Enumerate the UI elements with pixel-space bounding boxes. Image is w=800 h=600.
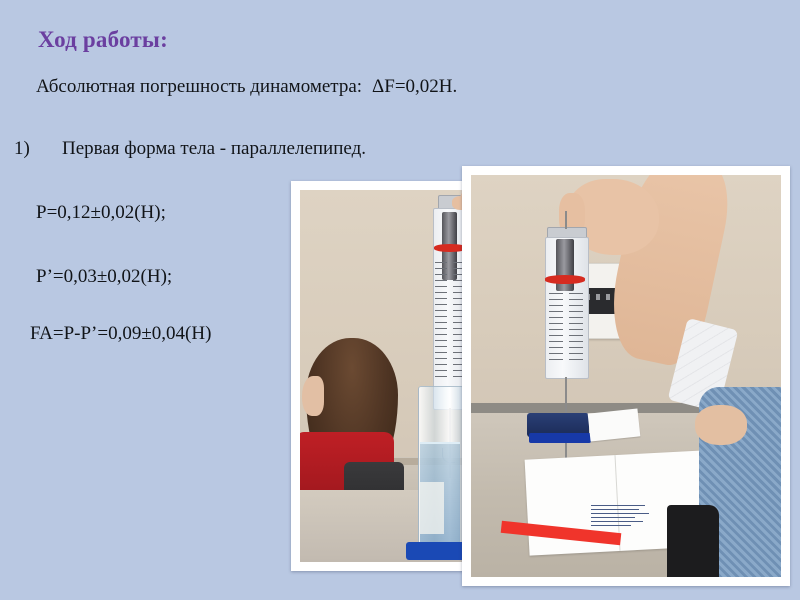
cylinder-label [420,482,444,534]
absolute-error-line: Абсолютная погрешность динамометра:ΔF=0,… [36,76,457,98]
photo-right-image [471,175,781,577]
dynamometer-top-loop [565,211,567,229]
dynamometer-scale-left [549,293,563,375]
pencil-case-lid [529,433,591,443]
paper-sheet [588,408,641,441]
photo-right [462,166,790,586]
dynamometer-scale-right [569,293,583,375]
formula-weight-in-water: P’=0,03±0,02(H); [36,266,172,288]
slide-canvas: { "slide": { "background_color": "#b9c8e… [0,0,800,600]
dynamometer-scale-left [435,262,447,402]
formula-weight-in-air: P=0,12±0,02(H); [36,202,166,224]
list-item-marker: 1) [14,138,62,160]
student-face [302,376,324,416]
dark-chair [667,505,719,577]
dynamometer-pointer [545,275,585,284]
formula-buoyant-force: FA=P-P’=0,09±0,04(H) [30,323,211,345]
page-title: Ход работы: [38,27,168,53]
list-item-label: Первая форма тела - параллелепипед. [62,138,366,159]
absolute-error-value: ΔF=0,02H. [372,76,457,97]
notebook-writing [591,505,651,529]
list-item: 1)Первая форма тела - параллелепипед. [14,138,366,160]
absolute-error-label: Абсолютная погрешность динамометра: [36,76,362,97]
person-arm [695,405,747,445]
